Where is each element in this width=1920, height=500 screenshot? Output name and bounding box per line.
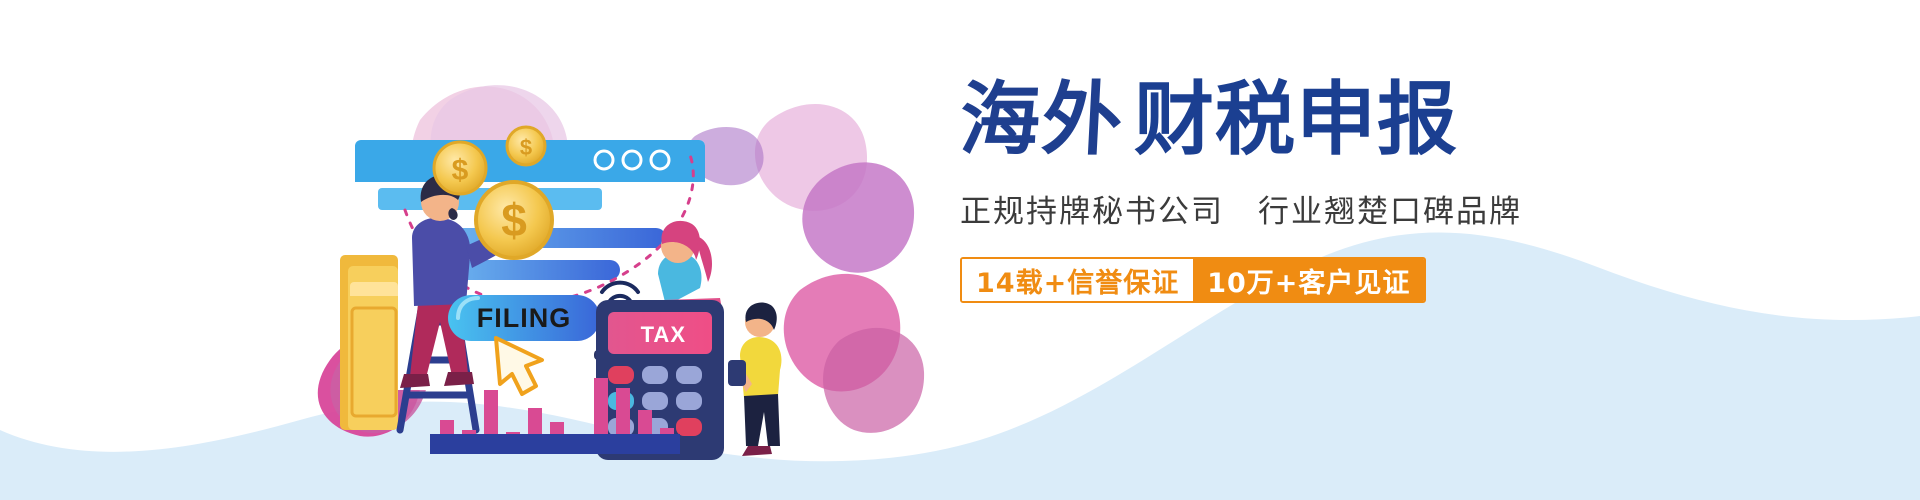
headline-part2: 财税申报 — [1134, 80, 1458, 160]
coin-symbol: $ — [501, 194, 527, 246]
badge-experience: 14载+信誉保证 — [962, 259, 1193, 301]
badge-group: 14载+信誉保证 10万+客户见证 — [960, 257, 1426, 303]
person-with-phone — [728, 303, 781, 456]
folder-stack — [340, 255, 398, 430]
copy-block: 海外 财税申报 正规持牌秘书公司行业翘楚口碑品牌 14载+信誉保证 10万+客户… — [960, 72, 1700, 303]
badge-customers: 10万+客户见证 — [1193, 259, 1424, 301]
coin-symbol: $ — [452, 154, 469, 187]
headline: 海外 财税申报 — [960, 72, 1700, 160]
subtitle-left: 正规持牌秘书公司 — [960, 194, 1224, 230]
headline-part1: 海外 — [958, 80, 1126, 160]
tax-display-label: TAX — [641, 322, 686, 347]
filing-button-label: FILING — [477, 303, 572, 333]
tax-filing-illustration: $ $ $ FILING — [300, 60, 940, 460]
subtitle: 正规持牌秘书公司行业翘楚口碑品牌 — [960, 186, 1700, 231]
coin-symbol: $ — [520, 135, 532, 160]
promo-banner: $ $ $ FILING — [0, 0, 1920, 500]
subtitle-right: 行业翘楚口碑品牌 — [1258, 194, 1522, 230]
filing-button[interactable]: FILING — [448, 295, 600, 341]
